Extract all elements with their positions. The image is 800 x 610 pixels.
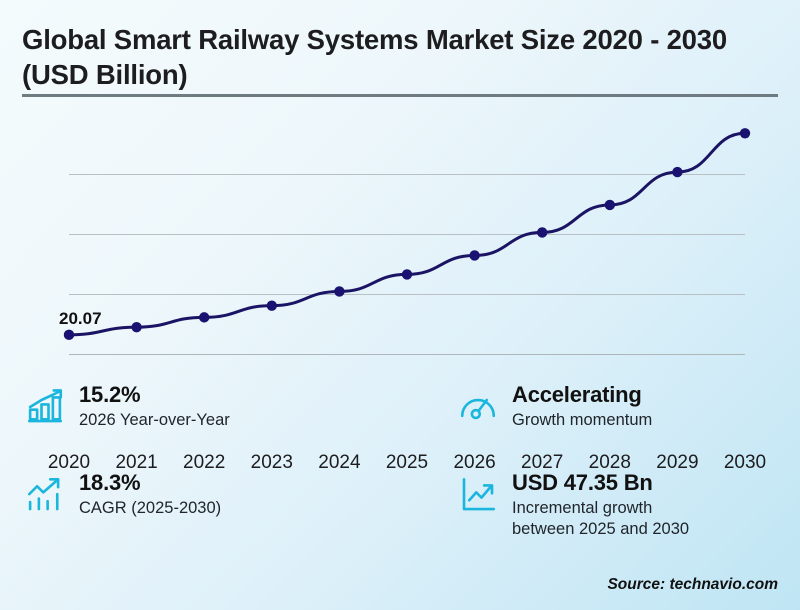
stat-cagr: 18.3% CAGR (2025-2030) [24, 470, 221, 519]
trend-up-bars-icon [24, 474, 66, 516]
stat-caption: Growth momentum [512, 410, 652, 431]
stat-caption: Incremental growth between 2025 and 2030 [512, 498, 689, 540]
stat-caption: 2026 Year-over-Year [79, 410, 230, 431]
infographic-canvas: Global Smart Railway Systems Market Size… [0, 0, 800, 610]
header: Global Smart Railway Systems Market Size… [22, 22, 778, 92]
data-point [469, 250, 479, 260]
stat-incremental: USD 47.35 Bn Incremental growth between … [457, 470, 689, 540]
data-point [334, 286, 344, 296]
stat-text: Accelerating Growth momentum [512, 382, 652, 431]
source-note: Source: technavio.com [607, 576, 778, 594]
data-point [402, 269, 412, 279]
bar-chart-growth-icon [24, 386, 66, 428]
data-point [537, 227, 547, 237]
data-point-label: 20.07 [59, 309, 102, 329]
stat-text: USD 47.35 Bn Incremental growth between … [512, 470, 689, 540]
stat-text: 15.2% 2026 Year-over-Year [79, 382, 230, 431]
stat-value: 15.2% [79, 382, 230, 408]
data-point [605, 200, 615, 210]
chart-plot-area: 20.07 [69, 114, 745, 354]
axis-trend-arrow-icon [457, 474, 499, 516]
data-point [64, 330, 74, 340]
stat-value: 18.3% [79, 470, 221, 496]
stat-value: Accelerating [512, 382, 652, 408]
data-point [131, 322, 141, 332]
header-divider [22, 94, 778, 97]
series-line [69, 114, 745, 354]
stat-value: USD 47.35 Bn [512, 470, 689, 496]
stat-caption: CAGR (2025-2030) [79, 498, 221, 519]
stat-blocks: 15.2% 2026 Year-over-Year Accelerating G… [24, 382, 780, 562]
x-axis-line [69, 354, 745, 355]
stat-yoy: 15.2% 2026 Year-over-Year [24, 382, 230, 431]
data-point [740, 128, 750, 138]
page-title: Global Smart Railway Systems Market Size… [22, 22, 778, 92]
line-chart: 20.07 2020202120222023202420252026202720… [0, 104, 800, 360]
stat-text: 18.3% CAGR (2025-2030) [79, 470, 221, 519]
data-point [267, 300, 277, 310]
data-point [199, 312, 209, 322]
speedometer-icon [457, 386, 499, 428]
stat-momentum: Accelerating Growth momentum [457, 382, 652, 431]
data-point [672, 167, 682, 177]
